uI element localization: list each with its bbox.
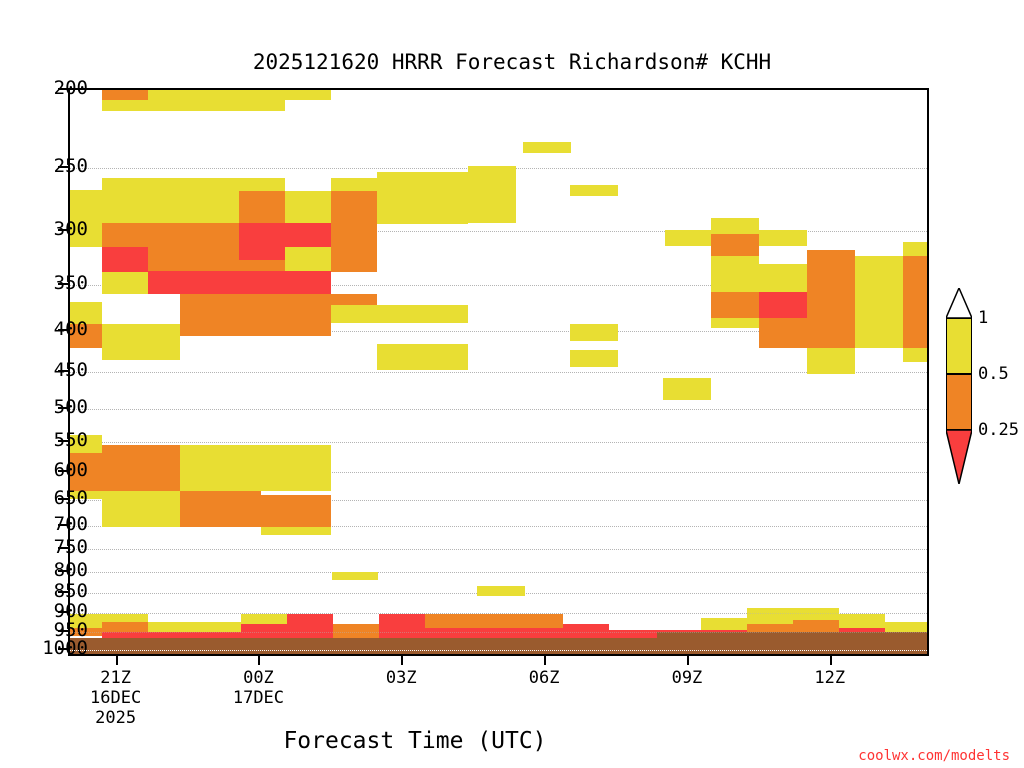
heatmap-cell xyxy=(148,271,239,294)
heatmap-cell xyxy=(285,191,331,223)
heatmap-cell xyxy=(285,247,331,272)
heatmap-cell xyxy=(807,250,855,348)
heatmap-cell xyxy=(331,178,377,191)
heatmap-cell xyxy=(711,278,759,292)
colorbar-above-max-arrow xyxy=(946,288,972,318)
heatmap-cell xyxy=(903,256,927,348)
heatmap-cell xyxy=(759,292,807,318)
x-axis-tick-label-00Z: 00Z 17DEC xyxy=(188,668,328,708)
heatmap-cell xyxy=(287,614,333,640)
y-axis-tick-label-300: 300 xyxy=(0,218,88,240)
x-axis-label: Forecast Time (UTC) xyxy=(0,728,830,754)
heatmap-cell xyxy=(759,318,807,348)
heatmap-cell xyxy=(331,294,377,305)
y-axis-tick-mark-650 xyxy=(58,498,68,500)
heatmap-cell xyxy=(102,90,148,100)
x-axis-tick-label-09Z: 09Z xyxy=(617,668,757,688)
gridline-750 xyxy=(70,549,927,551)
heatmap-cell xyxy=(239,260,285,271)
heatmap-cell xyxy=(180,491,261,527)
heatmap-cell xyxy=(711,292,759,318)
y-axis-tick-label-850: 850 xyxy=(0,580,88,602)
y-axis-tick-mark-700 xyxy=(58,524,68,526)
y-axis-tick-label-200: 200 xyxy=(0,77,88,99)
x-axis-tick-label-12Z: 12Z xyxy=(760,668,900,688)
heatmap-cell xyxy=(102,445,180,491)
heatmap-cell xyxy=(711,256,759,278)
heatmap-cell xyxy=(180,445,331,491)
x-axis-tick-mark-12Z xyxy=(830,656,832,665)
heatmap-cell xyxy=(379,614,425,628)
y-axis-tick-mark-850 xyxy=(58,591,68,593)
heatmap-cell xyxy=(261,495,331,527)
heatmap-cell xyxy=(239,247,285,260)
y-axis-tick-label-500: 500 xyxy=(0,396,88,418)
x-axis-tick-mark-21Z xyxy=(116,656,118,665)
heatmap-cell xyxy=(331,191,377,247)
heatmap-cell xyxy=(377,344,468,370)
heatmap-cell xyxy=(517,614,563,628)
heatmap-cell xyxy=(102,491,180,527)
heatmap-cell xyxy=(807,348,855,374)
heatmap-cell xyxy=(102,614,148,622)
heatmap-cell xyxy=(148,90,331,100)
y-axis-tick-mark-350 xyxy=(58,283,68,285)
heatmap-cell xyxy=(261,527,331,535)
y-axis-tick-mark-250 xyxy=(58,166,68,168)
y-axis-tick-label-250: 250 xyxy=(0,155,88,177)
heatmap-cell xyxy=(570,185,618,196)
gridline-550 xyxy=(70,442,927,444)
colorbar-label-1: 1 xyxy=(978,308,988,328)
page-title: 2025121620 HRRR Forecast Richardson# KCH… xyxy=(0,50,1024,74)
y-axis-tick-label-1000: 1000 xyxy=(0,637,88,659)
y-axis-tick-mark-300 xyxy=(58,229,68,231)
heatmap-cell xyxy=(477,586,525,596)
heatmap-cell xyxy=(241,614,287,624)
y-axis-tick-mark-550 xyxy=(58,440,68,442)
y-axis-tick-mark-950 xyxy=(58,630,68,632)
colorbar-segment-0 xyxy=(946,318,972,374)
plot-area xyxy=(68,88,929,656)
x-axis-tick-mark-03Z xyxy=(401,656,403,665)
x-axis-tick-label-06Z: 06Z xyxy=(474,668,614,688)
terrain-segment xyxy=(70,638,657,654)
heatmap-cell xyxy=(331,247,377,272)
y-axis-tick-mark-400 xyxy=(58,329,68,331)
heatmap-cell xyxy=(759,264,807,292)
heatmap-cell xyxy=(663,378,711,400)
heatmap-cell xyxy=(855,256,903,348)
heatmap-cell xyxy=(102,622,148,632)
x-axis-tick-mark-00Z xyxy=(258,656,260,665)
y-axis-tick-mark-800 xyxy=(58,570,68,572)
gridline-1000-overlay xyxy=(70,650,927,652)
heatmap-cell xyxy=(523,142,571,153)
y-axis-tick-label-350: 350 xyxy=(0,272,88,294)
gridline-500 xyxy=(70,409,927,411)
gridline-950-overlay xyxy=(70,632,927,634)
x-axis-tick-label-21Z: 21Z 16DEC 2025 xyxy=(46,668,186,728)
y-axis-tick-label-600: 600 xyxy=(0,459,88,481)
y-axis-tick-mark-1000 xyxy=(58,648,68,650)
y-axis-tick-mark-900 xyxy=(58,611,68,613)
heatmap-cell xyxy=(903,242,927,256)
y-axis-tick-mark-750 xyxy=(58,547,68,549)
heatmap-cell xyxy=(102,100,285,111)
y-axis-tick-mark-200 xyxy=(58,88,68,90)
x-axis-tick-mark-06Z xyxy=(544,656,546,665)
heatmap-cell xyxy=(701,618,747,630)
gridline-800 xyxy=(70,572,927,574)
y-axis-tick-mark-600 xyxy=(58,470,68,472)
heatmap-cell xyxy=(759,230,807,246)
y-axis-tick-label-650: 650 xyxy=(0,487,88,509)
heatmap-cell xyxy=(102,247,148,272)
heatmap-cell xyxy=(468,166,516,223)
heatmap-cell xyxy=(570,350,618,367)
heatmap-cell xyxy=(102,324,180,360)
x-axis-tick-label-03Z: 03Z xyxy=(331,668,471,688)
heatmap-cell xyxy=(711,234,759,256)
heatmap-cell xyxy=(570,324,618,341)
heatmap-cell xyxy=(665,230,711,246)
colorbar-segment-1 xyxy=(946,374,972,430)
colorbar: 10.50.25 xyxy=(942,288,976,484)
heatmap-cell xyxy=(332,572,378,580)
heatmap-cell xyxy=(148,622,241,632)
colorbar-label-0.25: 0.25 xyxy=(978,420,1019,440)
y-axis-tick-mark-500 xyxy=(58,407,68,409)
heatmap-cell xyxy=(102,178,239,223)
heatmap-cell xyxy=(903,348,927,362)
y-axis-tick-label-700: 700 xyxy=(0,513,88,535)
y-axis-tick-label-550: 550 xyxy=(0,429,88,451)
heatmap-cell xyxy=(377,305,468,323)
heatmap-cell xyxy=(711,218,759,234)
heatmap-cells xyxy=(70,90,927,654)
heatmap-cell xyxy=(239,271,331,294)
colorbar-label-0.5: 0.5 xyxy=(978,364,1009,384)
credit-watermark: coolwx.com/modelts xyxy=(858,748,1010,764)
colorbar-below-min-arrow xyxy=(946,430,972,484)
heatmap-cell xyxy=(239,223,331,247)
heatmap-cell xyxy=(331,305,377,323)
heatmap-cell xyxy=(425,614,517,628)
heatmap-cell xyxy=(239,178,285,191)
gridline-450 xyxy=(70,372,927,374)
heatmap-cell xyxy=(239,191,285,223)
chart-root: 2025121620 HRRR Forecast Richardson# KCH… xyxy=(0,0,1024,768)
heatmap-cell xyxy=(102,223,239,247)
gridline-900-overlay xyxy=(70,613,927,615)
heatmap-cell xyxy=(180,294,331,336)
y-axis-tick-label-400: 400 xyxy=(0,318,88,340)
y-axis-tick-label-750: 750 xyxy=(0,536,88,558)
heatmap-cell xyxy=(377,172,468,224)
heatmap-cell xyxy=(747,608,793,624)
y-axis-tick-label-800: 800 xyxy=(0,559,88,581)
heatmap-cell xyxy=(102,272,148,294)
heatmap-cell xyxy=(711,318,759,328)
heatmap-cell xyxy=(839,614,885,628)
x-axis-tick-mark-09Z xyxy=(687,656,689,665)
y-axis-tick-label-450: 450 xyxy=(0,359,88,381)
y-axis-tick-mark-450 xyxy=(58,370,68,372)
